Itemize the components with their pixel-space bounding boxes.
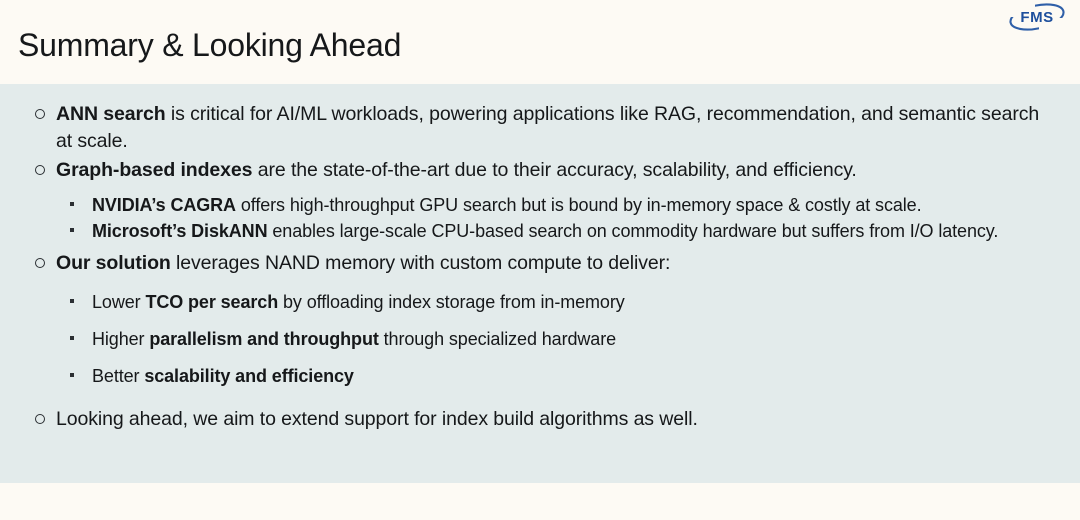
list-item: Higher parallelism and throughput throug… <box>70 326 1050 352</box>
list-item-text: Microsoft’s DiskANN enables large-scale … <box>92 218 1050 244</box>
page-title: Summary & Looking Ahead <box>18 28 401 63</box>
square-dot-icon <box>70 289 92 315</box>
list-item-text: Looking ahead, we aim to extend support … <box>56 406 1050 433</box>
list-item-text: Lower TCO per search by offloading index… <box>92 289 1050 315</box>
fms-logo: FMS <box>1006 2 1068 32</box>
list-item-text: Higher parallelism and throughput throug… <box>92 326 1050 352</box>
hollow-circle-icon <box>30 250 56 277</box>
hollow-circle-icon <box>30 157 56 184</box>
sublist-group-a: NVIDIA’s CAGRA offers high-throughput GP… <box>30 192 1050 244</box>
square-dot-icon <box>70 192 92 218</box>
list-item: Microsoft’s DiskANN enables large-scale … <box>70 218 1050 244</box>
list-item: ANN search is critical for AI/ML workloa… <box>30 101 1050 155</box>
sublist-group-b: Lower TCO per search by offloading index… <box>30 289 1050 389</box>
list-item: Looking ahead, we aim to extend support … <box>30 406 1050 433</box>
list-item: Our solution leverages NAND memory with … <box>30 250 1050 277</box>
list-item: Lower TCO per search by offloading index… <box>70 289 1050 315</box>
list-item: Graph-based indexes are the state-of-the… <box>30 157 1050 184</box>
square-dot-icon <box>70 326 92 352</box>
bullet-list: ANN search is critical for AI/ML workloa… <box>30 101 1050 435</box>
hollow-circle-icon <box>30 406 56 433</box>
list-item-text: NVIDIA’s CAGRA offers high-throughput GP… <box>92 192 1050 218</box>
svg-text:FMS: FMS <box>1020 9 1053 26</box>
list-item-text: Our solution leverages NAND memory with … <box>56 250 1050 277</box>
square-dot-icon <box>70 218 92 244</box>
content-band: ANN search is critical for AI/ML workloa… <box>0 84 1080 483</box>
list-item-text: Better scalability and efficiency <box>92 363 1050 389</box>
hollow-circle-icon <box>30 101 56 128</box>
list-item: Better scalability and efficiency <box>70 363 1050 389</box>
slide: FMS Summary & Looking Ahead ANN search i… <box>0 0 1080 520</box>
list-item-text: ANN search is critical for AI/ML workloa… <box>56 101 1050 155</box>
list-item-text: Graph-based indexes are the state-of-the… <box>56 157 1050 184</box>
square-dot-icon <box>70 363 92 389</box>
list-item: NVIDIA’s CAGRA offers high-throughput GP… <box>70 192 1050 218</box>
